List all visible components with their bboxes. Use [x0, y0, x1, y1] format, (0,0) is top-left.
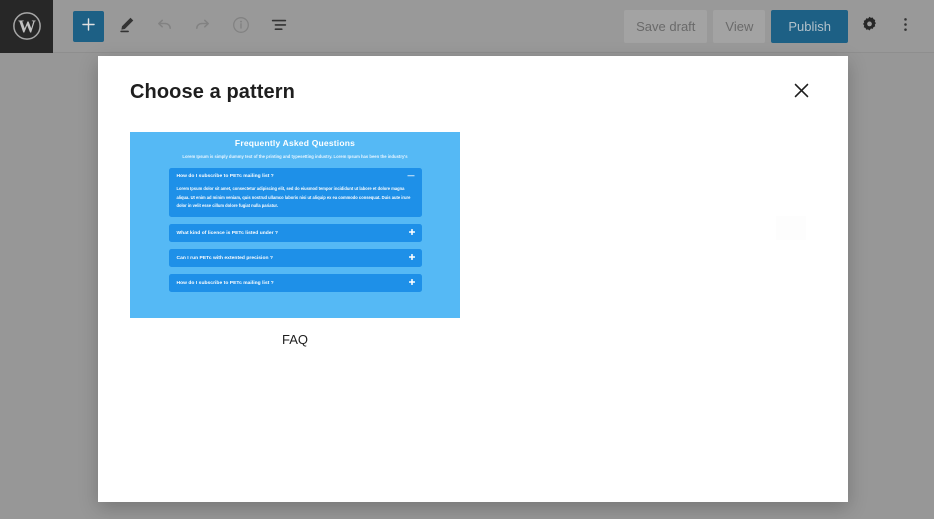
modal-body: Frequently Asked Questions Lorem Ipsum i…: [98, 128, 848, 347]
accordion-question: How do I subscribe to PETc mailing list …: [177, 174, 404, 179]
modal-header: Choose a pattern: [98, 56, 848, 128]
close-x-icon: [791, 80, 812, 104]
choose-pattern-modal: Choose a pattern Frequently Asked Questi…: [98, 56, 848, 502]
faq-subtitle: Lorem Ipsum is simply dummy text of the …: [180, 153, 410, 161]
pattern-preview-faq[interactable]: Frequently Asked Questions Lorem Ipsum i…: [130, 132, 460, 318]
accordion-question: How do I subscribe to PETc mailing list …: [177, 281, 405, 286]
plus-icon[interactable]: [405, 279, 415, 287]
accordion-header[interactable]: How do I subscribe to PETc mailing list …: [169, 168, 422, 185]
faq-accordion-list: How do I subscribe to PETc mailing list …: [169, 168, 422, 292]
accordion-answer: Lorem Ipsum dolor sit amet, consectetur …: [169, 185, 422, 217]
plus-icon[interactable]: [405, 229, 415, 237]
plus-icon[interactable]: [405, 254, 415, 262]
minus-icon[interactable]: —: [404, 173, 415, 180]
accordion-question: What kind of licence is PETc listed unde…: [177, 231, 405, 236]
close-modal-button[interactable]: [784, 75, 818, 109]
pattern-item-faq[interactable]: Frequently Asked Questions Lorem Ipsum i…: [130, 132, 460, 347]
accordion-item[interactable]: Can I run PETc with extented precision ?: [169, 249, 422, 267]
accordion-item[interactable]: What kind of licence is PETc listed unde…: [169, 224, 422, 242]
faq-heading: Frequently Asked Questions: [130, 138, 460, 148]
accordion-question: Can I run PETc with extented precision ?: [177, 256, 405, 261]
accordion-item[interactable]: How do I subscribe to PETc mailing list …: [169, 274, 422, 292]
accordion-header[interactable]: How do I subscribe to PETc mailing list …: [169, 274, 422, 292]
accordion-header[interactable]: What kind of licence is PETc listed unde…: [169, 224, 422, 242]
editor-root: W: [0, 0, 934, 519]
page-title: Choose a pattern: [130, 81, 295, 104]
accordion-header[interactable]: Can I run PETc with extented precision ?: [169, 249, 422, 267]
render-artifact: [776, 216, 806, 240]
accordion-item[interactable]: How do I subscribe to PETc mailing list …: [169, 168, 422, 217]
pattern-label: FAQ: [130, 318, 460, 347]
faq-header: Frequently Asked Questions Lorem Ipsum i…: [130, 132, 460, 161]
